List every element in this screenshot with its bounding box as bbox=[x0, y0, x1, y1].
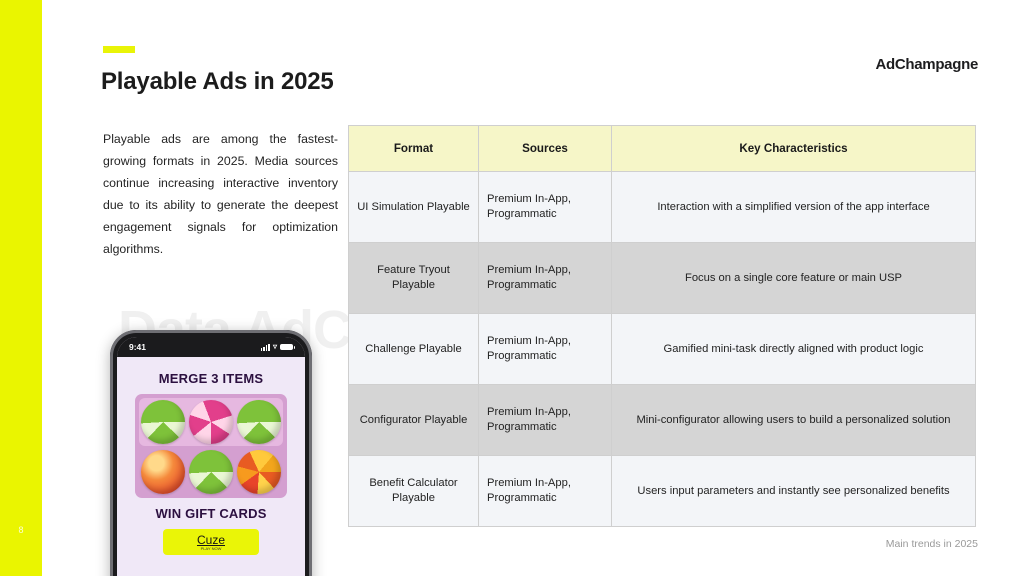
column-header-key-characteristics: Key Characteristics bbox=[612, 126, 976, 172]
table-row: Benefit Calculator Playable Premium In-A… bbox=[349, 456, 976, 527]
cell-characteristics: Gamified mini-task directly aligned with… bbox=[612, 314, 976, 385]
phone-mockup: 9:41 ▿ MERGE 3 ITEMS bbox=[110, 330, 312, 576]
wifi-icon: ▿ bbox=[273, 343, 277, 351]
cell-sources: Premium In-App, Programmatic bbox=[479, 243, 612, 314]
merge-grid-row bbox=[139, 450, 283, 494]
formats-table-container: Format Sources Key Characteristics UI Si… bbox=[348, 125, 975, 527]
playable-ad-content: MERGE 3 ITEMS WIN GIFT CARDS Cuze PLAY N… bbox=[117, 357, 305, 555]
table-row: Challenge Playable Premium In-App, Progr… bbox=[349, 314, 976, 385]
cell-sources: Premium In-App, Programmatic bbox=[479, 385, 612, 456]
table-row: Configurator Playable Premium In-App, Pr… bbox=[349, 385, 976, 456]
column-header-format: Format bbox=[349, 126, 479, 172]
status-time: 9:41 bbox=[129, 342, 146, 352]
phone-screen: 9:41 ▿ MERGE 3 ITEMS bbox=[117, 337, 305, 576]
merge-grid-row-highlighted bbox=[139, 398, 283, 446]
left-accent-rail: 8 bbox=[0, 0, 42, 576]
cell-sources: Premium In-App, Programmatic bbox=[479, 456, 612, 527]
page-title: Playable Ads in 2025 bbox=[101, 68, 334, 96]
phone-volume-down-button bbox=[110, 448, 111, 472]
status-indicators: ▿ bbox=[261, 343, 293, 351]
ad-headline: MERGE 3 ITEMS bbox=[127, 371, 295, 386]
cell-characteristics: Users input parameters and instantly see… bbox=[612, 456, 976, 527]
column-header-sources: Sources bbox=[479, 126, 612, 172]
phone-power-button bbox=[311, 426, 312, 458]
cell-format: Configurator Playable bbox=[349, 385, 479, 456]
battery-icon bbox=[280, 344, 293, 351]
cell-format: UI Simulation Playable bbox=[349, 172, 479, 243]
table-row: UI Simulation Playable Premium In-App, P… bbox=[349, 172, 976, 243]
candy-swirl-icon[interactable] bbox=[237, 450, 281, 494]
ad-cta-sublabel: PLAY NOW bbox=[201, 546, 222, 551]
page-number: 8 bbox=[0, 525, 42, 535]
cell-format: Feature Tryout Playable bbox=[349, 243, 479, 314]
ad-cta-label: Cuze bbox=[197, 534, 225, 546]
cell-characteristics: Interaction with a simplified version of… bbox=[612, 172, 976, 243]
phone-status-bar: 9:41 ▿ bbox=[117, 337, 305, 357]
phone-volume-up-button bbox=[110, 416, 111, 440]
candy-green-icon[interactable] bbox=[189, 450, 233, 494]
candy-green-icon[interactable] bbox=[141, 400, 185, 444]
cell-format: Challenge Playable bbox=[349, 314, 479, 385]
cell-sources: Premium In-App, Programmatic bbox=[479, 172, 612, 243]
intro-paragraph: Playable ads are among the fastest-growi… bbox=[103, 128, 338, 260]
cellular-signal-icon bbox=[261, 344, 270, 351]
cell-characteristics: Focus on a single core feature or main U… bbox=[612, 243, 976, 314]
brand-logo: AdChampagne bbox=[875, 56, 978, 73]
candy-pink-icon[interactable] bbox=[189, 400, 233, 444]
ad-subline: WIN GIFT CARDS bbox=[127, 506, 295, 521]
cell-sources: Premium In-App, Programmatic bbox=[479, 314, 612, 385]
table-header-row: Format Sources Key Characteristics bbox=[349, 126, 976, 172]
footer-note: Main trends in 2025 bbox=[886, 538, 978, 550]
candy-green-icon[interactable] bbox=[237, 400, 281, 444]
formats-table: Format Sources Key Characteristics UI Si… bbox=[348, 125, 976, 527]
table-row: Feature Tryout Playable Premium In-App, … bbox=[349, 243, 976, 314]
phone-mute-switch bbox=[110, 392, 111, 406]
cell-format: Benefit Calculator Playable bbox=[349, 456, 479, 527]
ad-cta-button[interactable]: Cuze PLAY NOW bbox=[163, 529, 259, 555]
merge-grid bbox=[135, 394, 287, 498]
candy-orange-icon[interactable] bbox=[141, 450, 185, 494]
cell-characteristics: Mini-configurator allowing users to buil… bbox=[612, 385, 976, 456]
title-accent-dash bbox=[103, 46, 135, 53]
